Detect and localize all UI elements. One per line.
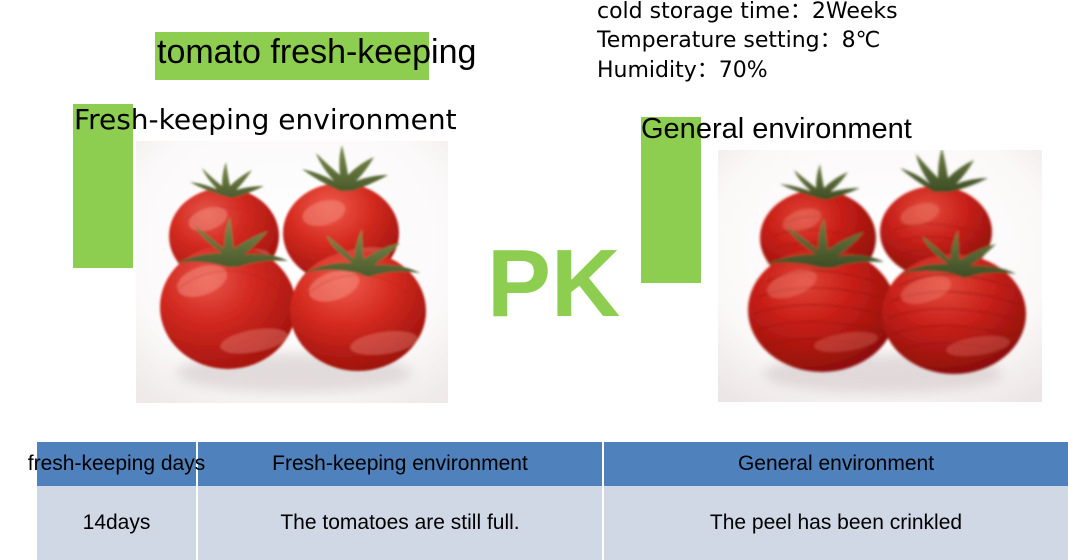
table-header-days-label: fresh-keeping days	[28, 452, 205, 476]
table-body: 14days The tomatoes are still full. The …	[37, 486, 1068, 560]
table-cell-days: 14days	[37, 486, 198, 560]
wrinkled-tomatoes-photo	[718, 150, 1042, 402]
pk-versus-label: PK	[487, 236, 620, 332]
fresh-keeping-environment-label: Fresh-keeping environment	[74, 105, 457, 134]
page-title: tomato fresh-keeping	[157, 35, 476, 71]
table-header-days: fresh-keeping days	[37, 442, 198, 486]
table-cell-fresh-keeping-result: The tomatoes are still full.	[198, 486, 604, 560]
table-header-row: fresh-keeping days Fresh-keeping environ…	[37, 442, 1068, 486]
storage-conditions-block: cold storage time：2Weeks Temperature set…	[597, 0, 898, 85]
table-row: 14days The tomatoes are still full. The …	[37, 486, 1068, 560]
comparison-table: fresh-keeping days Fresh-keeping environ…	[37, 442, 1068, 560]
fresh-tomatoes-photo	[136, 141, 448, 403]
table-cell-general-result: The peel has been crinkled	[604, 486, 1068, 560]
table-header-general: General environment	[604, 442, 1068, 486]
slide-canvas: tomato fresh-keeping cold storage time：2…	[0, 0, 1068, 560]
table-header-fresh-keeping: Fresh-keeping environment	[198, 442, 604, 486]
fresh-tomatoes-image	[136, 141, 448, 403]
wrinkled-tomatoes-image	[718, 150, 1042, 402]
table-header: fresh-keeping days Fresh-keeping environ…	[37, 442, 1068, 486]
temperature-setting-text: Temperature setting：8℃	[597, 26, 898, 55]
cold-storage-time-text: cold storage time：2Weeks	[597, 0, 898, 26]
general-environment-label: General environment	[641, 114, 912, 144]
humidity-text: Humidity：70%	[597, 56, 898, 85]
